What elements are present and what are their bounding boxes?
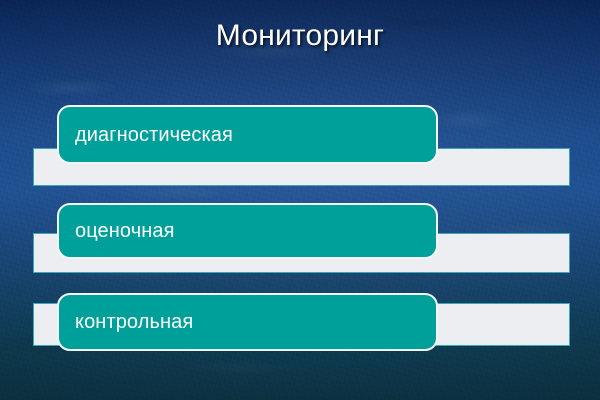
presentation-slide: Мониторинг диагностическая оценочная кон…: [0, 0, 600, 400]
slide-title: Мониторинг: [0, 18, 600, 54]
item-label: контрольная: [59, 311, 193, 333]
item-label: диагностическая: [59, 124, 233, 146]
item-chip-diagnosticheskaya[interactable]: диагностическая: [57, 105, 438, 164]
item-chip-otsenochnaya[interactable]: оценочная: [57, 203, 438, 259]
item-label: оценочная: [59, 220, 175, 242]
item-chip-kontrolnaya[interactable]: контрольная: [57, 293, 438, 351]
